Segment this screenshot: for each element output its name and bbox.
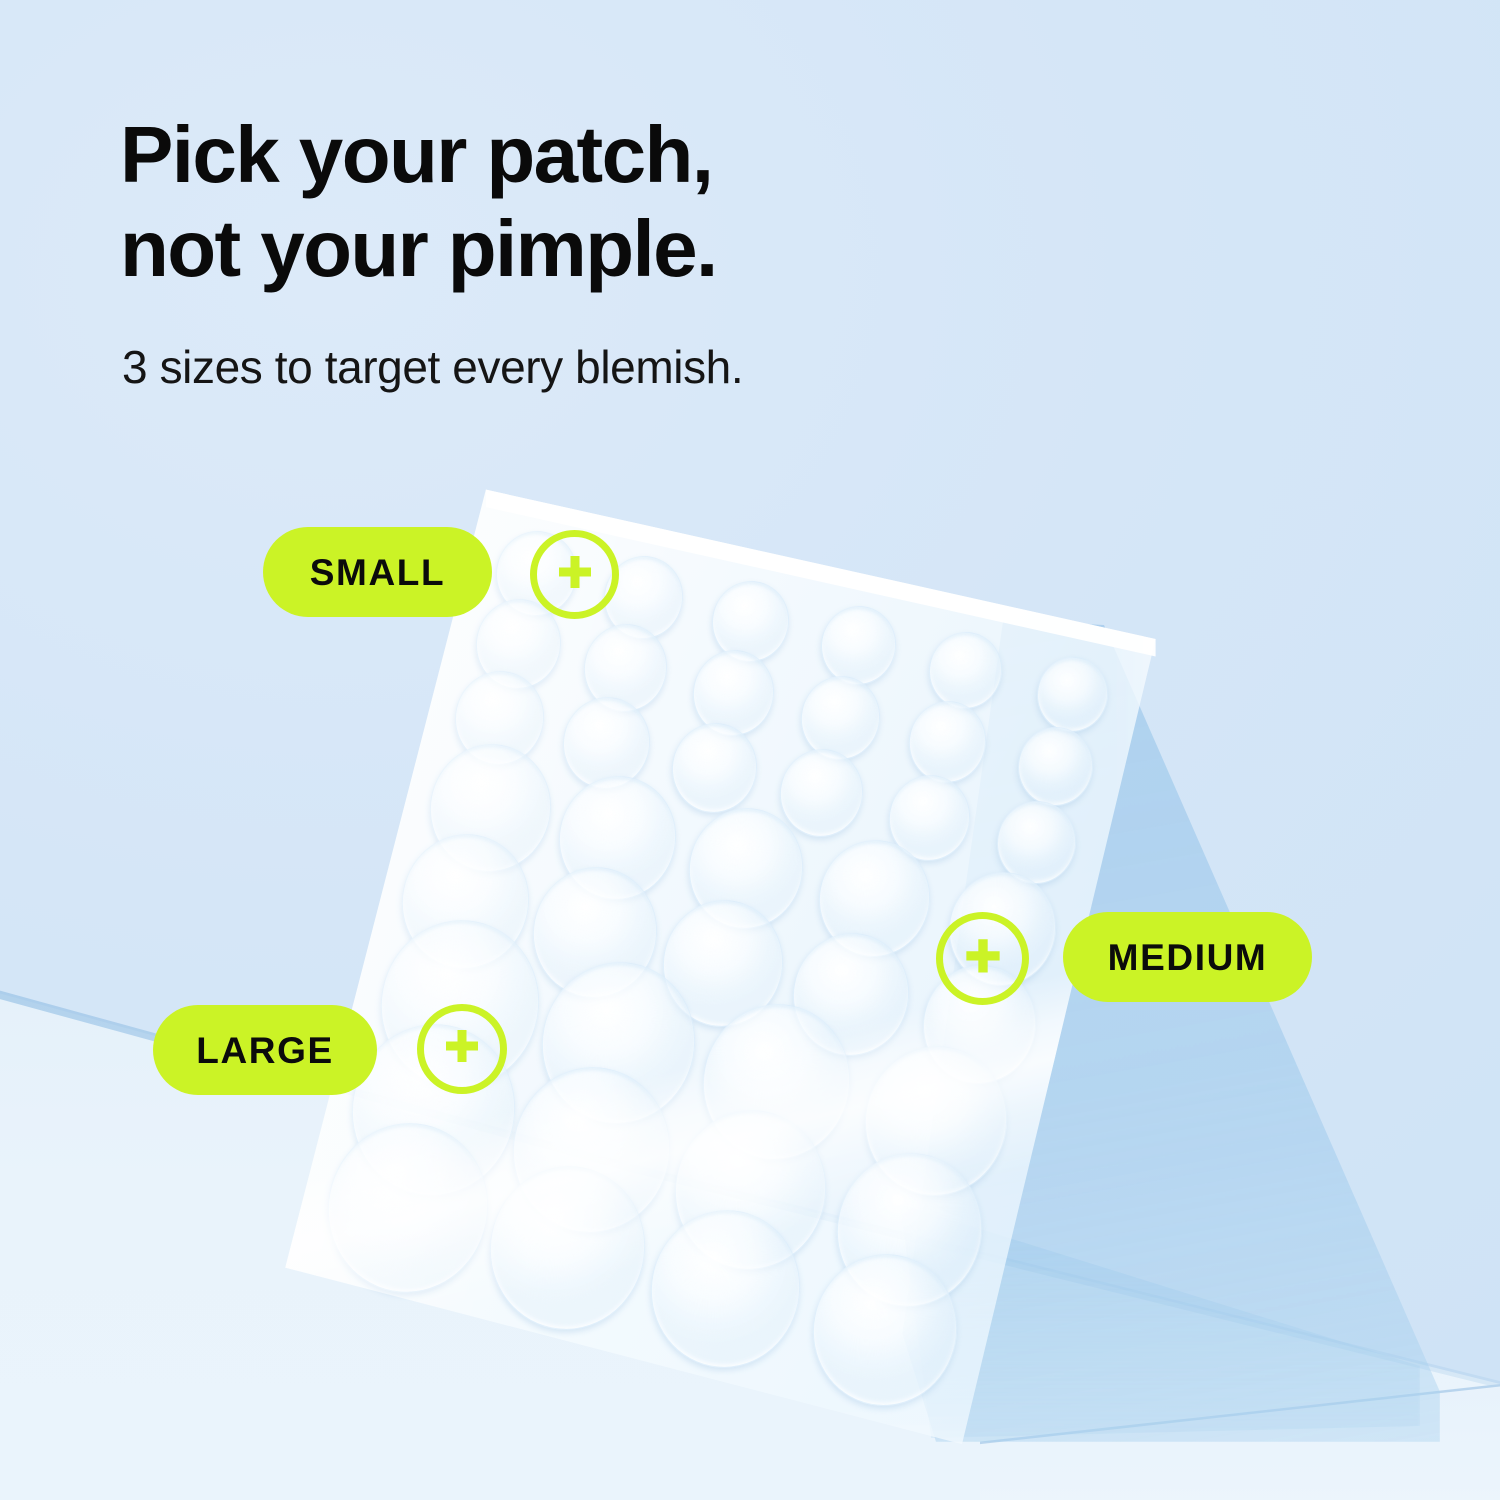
page-title: Pick your patch, not your pimple.: [120, 108, 717, 295]
size-badge-medium[interactable]: MEDIUM: [1063, 912, 1312, 1002]
size-badge-large[interactable]: LARGE: [153, 1005, 377, 1095]
size-badge-small[interactable]: SMALL: [263, 527, 492, 617]
page-subtitle: 3 sizes to target every blemish.: [122, 340, 743, 395]
plus-circle-icon-large[interactable]: [417, 1004, 507, 1094]
plus-circle-icon-small[interactable]: [530, 530, 619, 619]
product-hero-banner: Pick your patch, not your pimple. 3 size…: [0, 0, 1500, 1500]
plus-circle-icon-medium[interactable]: [936, 912, 1029, 1005]
